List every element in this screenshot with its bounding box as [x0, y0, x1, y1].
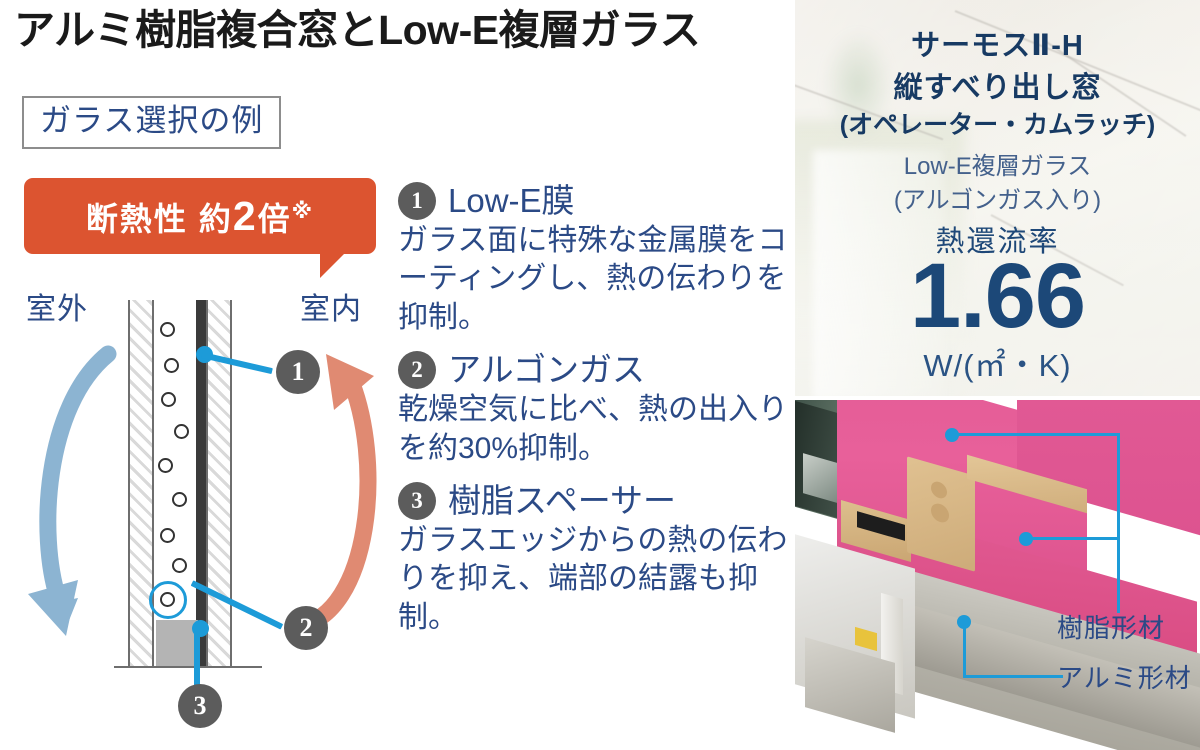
- argon-gas-circle: [160, 528, 175, 543]
- page-title: アルミ樹脂複合窓とLow‐E複層ガラス: [14, 8, 789, 53]
- outer-glass-pane: [128, 300, 154, 666]
- infographic-root: アルミ樹脂複合窓とLow‐E複層ガラス ガラス選択の例 断熱性 約2倍※ 室外 …: [0, 0, 1200, 750]
- aluminum-profile-label: アルミ形材: [1057, 658, 1192, 695]
- aluminum-leader-h: [963, 675, 1063, 678]
- spec-metric-value: 1.66: [795, 250, 1200, 342]
- callout-1-badge: 1: [276, 350, 320, 394]
- argon-gas-circle: [161, 392, 176, 407]
- product-photo-card: 樹脂形材 アルミ形材: [795, 400, 1200, 750]
- resin-profile-label: 樹脂形材: [1057, 608, 1165, 645]
- feature-title: アルゴンガス: [448, 352, 645, 388]
- insulation-banner-text: 断熱性 約2倍※: [86, 193, 314, 240]
- callout-2-badge: 2: [284, 606, 328, 650]
- banner-suffix: 倍: [258, 201, 292, 237]
- feature-head: 2 アルゴンガス: [398, 351, 790, 389]
- banner-tail: [320, 252, 372, 278]
- feature-number-badge: 1: [398, 182, 436, 220]
- feature-head: 1 Low-E膜: [398, 182, 790, 220]
- argon-gas-circle: [158, 458, 173, 473]
- feature-item-spacer: 3 樹脂スペーサー ガラスエッジからの熱の伝わりを抑え、端部の結露も抑制。: [398, 482, 790, 637]
- feature-item-argon: 2 アルゴンガス 乾燥空気に比べ、熱の出入りを約30%抑制。: [398, 351, 790, 468]
- spec-text-block: サーモスⅡ-H 縦すべり出し窓 (オペレーター・カムラッチ) Low-E複層ガラ…: [795, 0, 1200, 396]
- argon-gas-circle: [164, 358, 179, 373]
- spec-window-subtype: (オペレーター・カムラッチ): [795, 105, 1200, 141]
- spec-card: サーモスⅡ-H 縦すべり出し窓 (オペレーター・カムラッチ) Low-E複層ガラ…: [795, 0, 1200, 396]
- feature-list: 1 Low-E膜 ガラス面に特殊な金属膜をコーティングし、熱の伝わりを抑制。 2…: [398, 182, 790, 651]
- argon-gas-circle: [174, 424, 189, 439]
- argon-gas-circle: [172, 558, 187, 573]
- sill-line: [114, 666, 262, 668]
- argon-gas-circle: [172, 492, 187, 507]
- feature-body: ガラス面に特殊な金属膜をコーティングし、熱の伝わりを抑制。: [398, 222, 790, 337]
- right-column: サーモスⅡ-H 縦すべり出し窓 (オペレーター・カムラッチ) Low-E複層ガラ…: [795, 0, 1200, 750]
- spec-window-type: 縦すべり出し窓: [795, 64, 1200, 106]
- callout-3-leader: [194, 629, 200, 689]
- glass-assembly: [128, 300, 248, 680]
- feature-number-badge: 2: [398, 351, 436, 389]
- feature-head: 3 樹脂スペーサー: [398, 482, 790, 520]
- spec-metric-unit: W/(㎡・K): [795, 340, 1200, 385]
- resin-leader-v: [1117, 433, 1120, 613]
- banner-note-mark: ※: [292, 200, 314, 223]
- resin-leader-h-upper: [952, 433, 1120, 436]
- argon-gas-circle: [160, 322, 175, 337]
- feature-body: 乾燥空気に比べ、熱の出入りを約30%抑制。: [398, 391, 790, 468]
- argon-highlight-ring: [149, 581, 187, 619]
- example-badge: ガラス選択の例: [22, 96, 281, 149]
- banner-multiplier: 2: [233, 193, 258, 239]
- glass-cross-section-diagram: 室外 室内: [0, 280, 400, 750]
- spec-gas-type: (アルゴンガス入り): [795, 180, 1200, 215]
- insulation-banner-body: 断熱性 約2倍※: [24, 178, 376, 254]
- left-panel: アルミ樹脂複合窓とLow‐E複層ガラス ガラス選択の例 断熱性 約2倍※ 室外 …: [0, 0, 795, 750]
- banner-prefix: 断熱性 約: [86, 201, 233, 237]
- feature-title: 樹脂スペーサー: [448, 483, 676, 519]
- aluminum-leader-v: [963, 621, 966, 677]
- indoor-label: 室内: [300, 284, 362, 328]
- outdoor-label: 室外: [26, 284, 88, 328]
- feature-item-low-e: 1 Low-E膜 ガラス面に特殊な金属膜をコーティングし、熱の伝わりを抑制。: [398, 182, 790, 337]
- callout-3-badge: 3: [178, 684, 222, 728]
- cold-air-arrow-icon: [4, 336, 124, 656]
- feature-number-badge: 3: [398, 482, 436, 520]
- spec-glass-type: Low-E複層ガラス: [795, 146, 1200, 181]
- feature-title: Low-E膜: [448, 183, 575, 219]
- feature-body: ガラスエッジからの熱の伝わりを抑え、端部の結露も抑制。: [398, 522, 790, 637]
- spec-product-name: サーモスⅡ-H: [795, 22, 1200, 64]
- resin-leader-h-lower: [1026, 537, 1120, 540]
- insulation-banner: 断熱性 約2倍※: [24, 178, 376, 278]
